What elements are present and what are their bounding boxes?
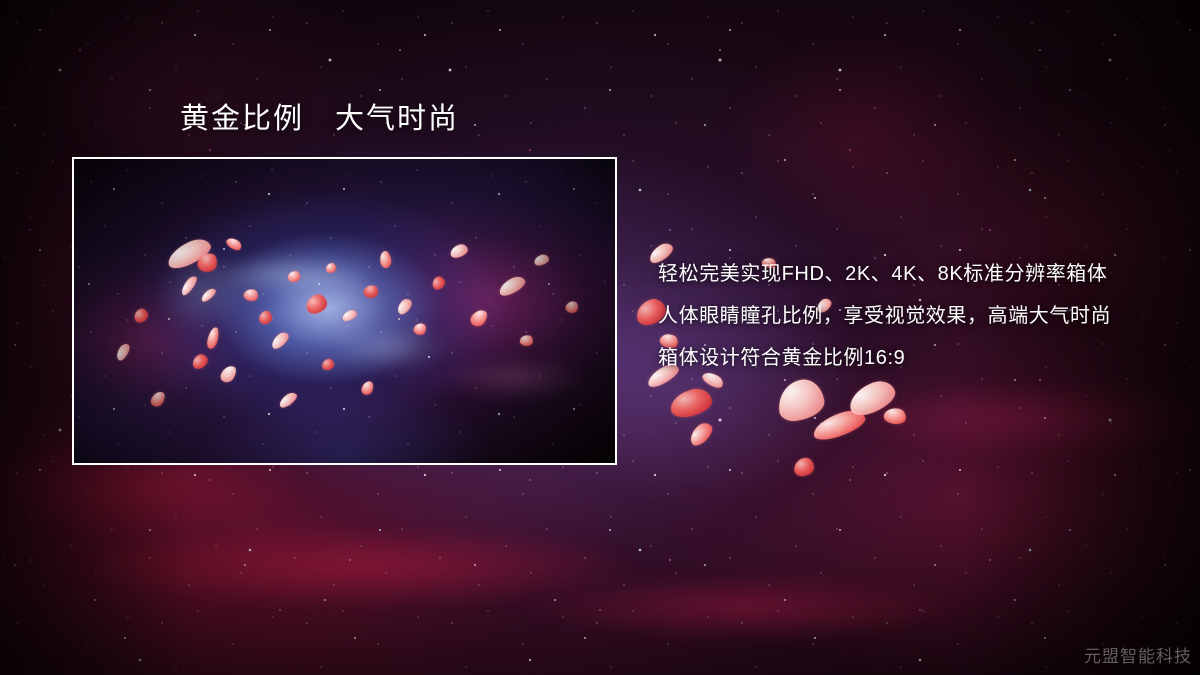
petal [775,377,826,423]
petal [686,419,716,448]
petal [882,406,907,427]
presentation-slide: 黄金比例 大气时尚 [0,0,1200,675]
slide-title: 黄金比例 大气时尚 [180,100,459,138]
body-text-block: 轻松完美实现FHD、2K、4K、8K标准分辨率箱体 人体眼睛瞳孔比例，享受视觉效… [658,253,1158,379]
inner-image-vignette [74,159,615,463]
petal [810,406,868,444]
framed-image [72,157,617,465]
body-line-1: 轻松完美实现FHD、2K、4K、8K标准分辨率箱体 [658,253,1158,295]
body-line-2: 人体眼睛瞳孔比例，享受视觉效果，高端大气时尚 [658,295,1158,337]
petal [793,457,815,477]
framed-image-content [74,159,615,463]
body-line-3: 箱体设计符合黄金比例16:9 [658,337,1158,379]
petal [845,376,900,420]
petal [668,386,714,420]
watermark: 元盟智能科技 [1084,642,1192,667]
